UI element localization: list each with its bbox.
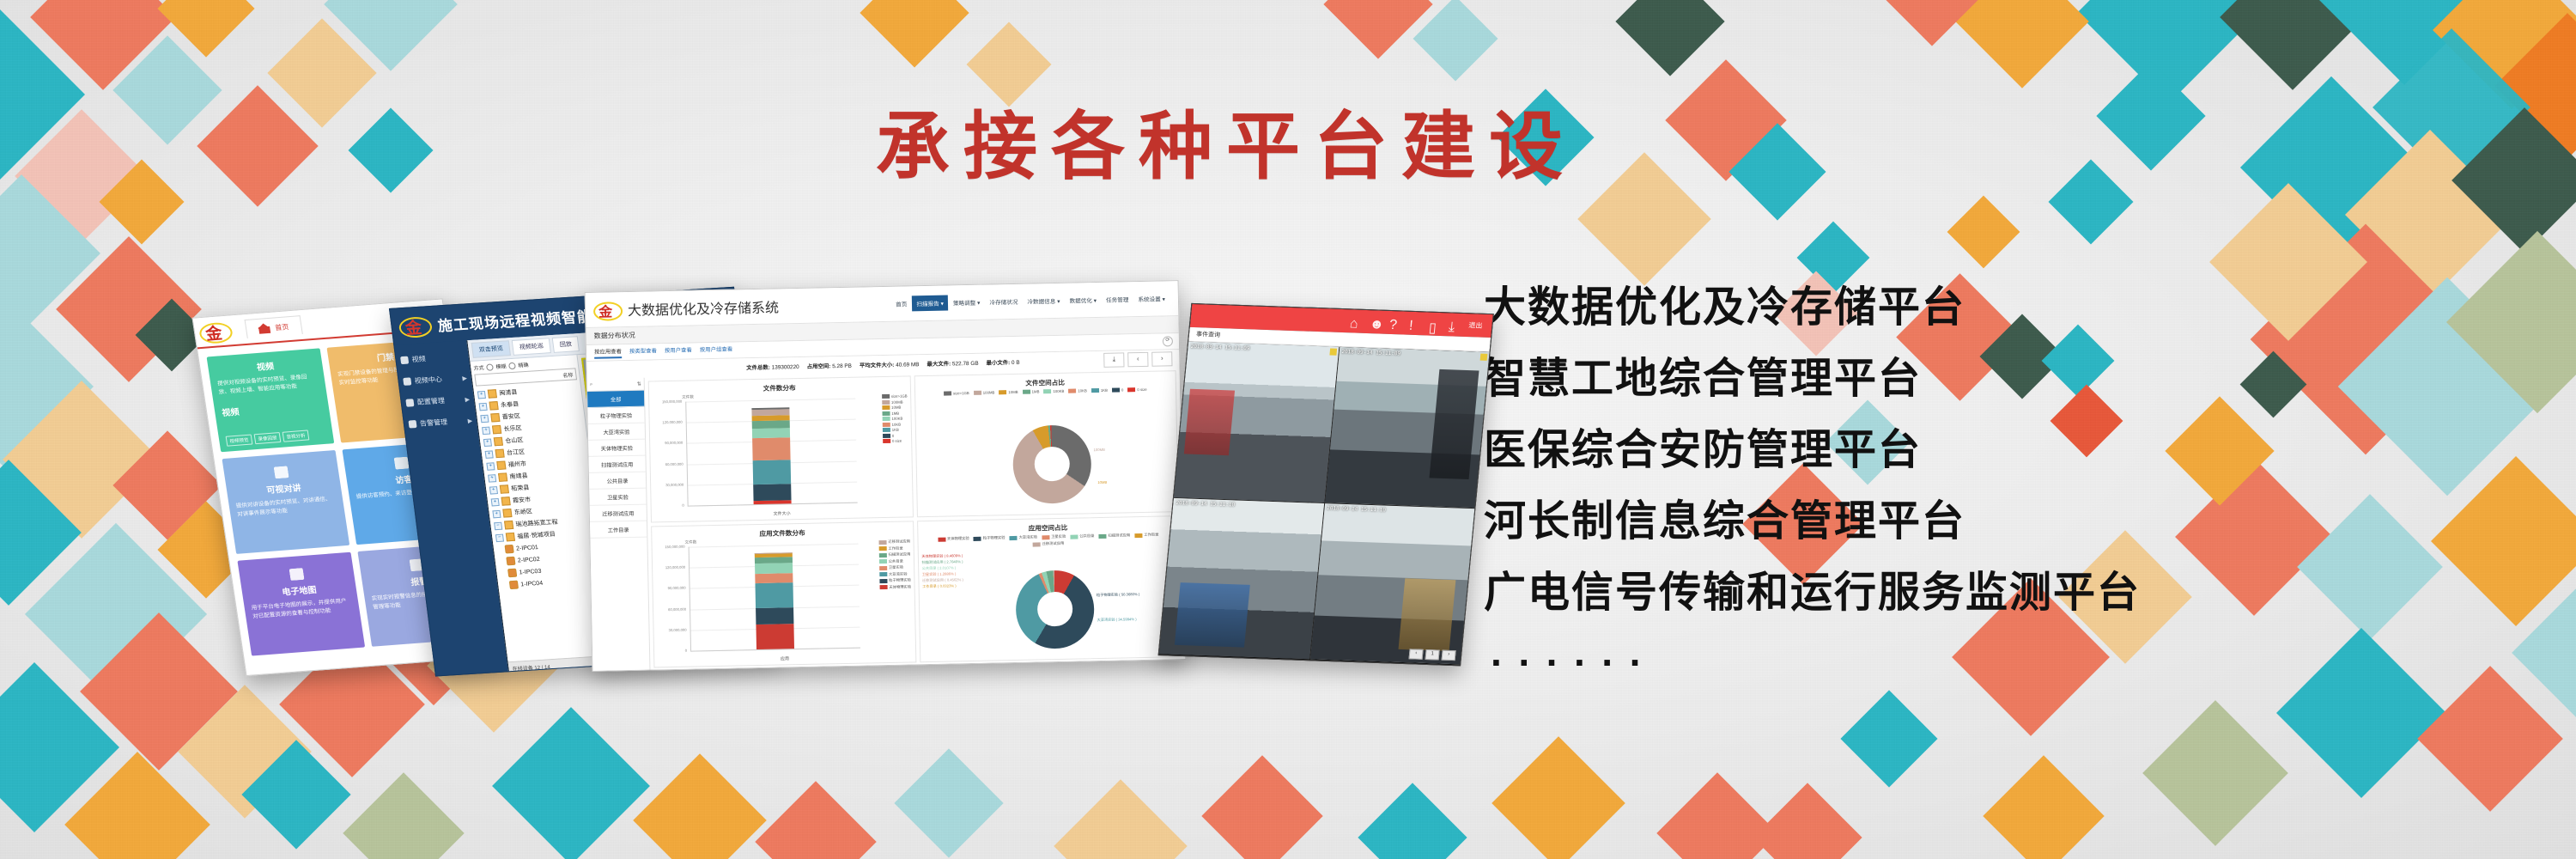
camera-tile[interactable]: 2018-09-14 15:11:09 bbox=[1174, 342, 1339, 503]
legend-label: 10MB bbox=[1008, 390, 1018, 394]
y-tick-label: 150,000,000 bbox=[651, 399, 682, 405]
sidebar-app-item[interactable]: 全部 bbox=[587, 391, 644, 408]
portal-card[interactable]: 电子地图用于平台电子地图的展示，并提供用户对已配置资源的查看与控制功能 bbox=[237, 552, 365, 656]
download-icon[interactable]: ⤓ bbox=[1449, 320, 1460, 330]
tree-node-label: 长乐区 bbox=[503, 423, 522, 433]
legend-label: 10KB bbox=[1078, 388, 1087, 393]
pie-annotation: 工作目录 ( 0.0323% ) bbox=[922, 583, 957, 589]
sidebar-app-item[interactable]: 迁移测试应用 bbox=[590, 505, 647, 522]
legend-label: 卫星实验 bbox=[1051, 534, 1066, 539]
camera-tile[interactable]: 2018-09-14 15:11:10 bbox=[1310, 503, 1475, 664]
decor-square bbox=[860, 0, 969, 68]
legend-item: 迁移测试应用 bbox=[1032, 541, 1064, 547]
decor-square bbox=[1413, 0, 1498, 81]
tree-node-label: 东峤区 bbox=[513, 508, 532, 517]
site-tab[interactable]: 双击预览 bbox=[471, 340, 511, 358]
dashboard-stat: 最小文件: 0 B bbox=[986, 357, 1019, 366]
dashboard-nav-item[interactable]: 冷数据信息 ▾ bbox=[1023, 293, 1064, 309]
y-axis-label: 文件数 bbox=[684, 539, 696, 545]
expand-toggle-icon[interactable]: + bbox=[480, 414, 489, 422]
expand-toggle-icon[interactable]: + bbox=[483, 438, 492, 446]
tree-node-label: 晋安区 bbox=[501, 411, 520, 421]
expand-toggle-icon[interactable]: + bbox=[486, 462, 495, 470]
stat-value: 522.78 GB bbox=[952, 360, 979, 367]
legend-item: size>1GB bbox=[944, 391, 969, 396]
legend-swatch bbox=[879, 552, 887, 557]
next-button[interactable]: › bbox=[1151, 351, 1172, 366]
legend-label: 100KB bbox=[891, 417, 902, 421]
brand-logo-icon: 金 bbox=[396, 313, 434, 338]
y-tick-label: 90,000,000 bbox=[655, 586, 686, 591]
legend-swatch bbox=[882, 417, 890, 421]
bell-icon bbox=[408, 420, 416, 428]
live-badge bbox=[1480, 354, 1488, 361]
opt-fuzzy[interactable]: 模糊 bbox=[495, 362, 507, 370]
radio-fuzzy-icon[interactable] bbox=[486, 363, 494, 370]
expand-toggle-icon[interactable]: + bbox=[485, 450, 494, 458]
sort-label: 名称 bbox=[562, 370, 574, 379]
chart-file-count-distribution: 文件数分布文件数030,000,00060,000,00090,000,0001… bbox=[648, 375, 914, 522]
pie-annotation: 天体物理实验 ( 8.4609% ) bbox=[921, 553, 963, 559]
legend-label: 粒子物理实验 bbox=[889, 577, 911, 583]
building-icon bbox=[494, 437, 503, 447]
stat-label: 文件总数: bbox=[746, 364, 770, 371]
dashboard-nav-item[interactable]: 首页 bbox=[891, 295, 912, 311]
legend-label: 扫描测试应用 bbox=[889, 551, 911, 557]
cctv-camera-grid[interactable]: 2018-09-14 15:11:09 2018-09-14 15:11:09 … bbox=[1159, 342, 1490, 665]
site-tab[interactable]: 回放 bbox=[552, 336, 580, 353]
decor-square bbox=[343, 772, 464, 859]
y-tick-label: 90,000,000 bbox=[652, 441, 683, 446]
pie-annotation: 100MBsize>1GB ( 31.5270% )10MB1MB0 size … bbox=[1094, 448, 1105, 452]
y-axis bbox=[689, 547, 691, 651]
dashboard-page-title: 数据分布状况 bbox=[594, 331, 635, 341]
chart-legend: 迁移测试应用 工作目录 扫描测试应用 公共目录 卫星实验 大亚湾实验 粒子物理实… bbox=[878, 539, 911, 589]
chart-title: 文件数分布 bbox=[649, 381, 910, 395]
site-nav-label: 配置管理 bbox=[416, 396, 445, 407]
legend-label: size>1GB bbox=[953, 391, 969, 395]
sidebar-app-item[interactable]: 公共目录 bbox=[589, 472, 646, 490]
cctv-next-button[interactable]: › bbox=[1442, 650, 1456, 661]
stat-value: 5.28 PB bbox=[832, 362, 852, 369]
map-icon bbox=[289, 568, 305, 581]
camera-timestamp: 2018-09-14 15:11:09 bbox=[1341, 349, 1400, 356]
bar-segment bbox=[755, 557, 793, 564]
sidebar-app-item[interactable]: 扫描测试应用 bbox=[588, 456, 645, 473]
decor-square bbox=[1983, 755, 2104, 859]
site-nav-label: 告警管理 bbox=[419, 417, 447, 429]
cctv-prev-button[interactable]: ‹ bbox=[1409, 649, 1424, 660]
legend-label: 100KB bbox=[1053, 389, 1064, 393]
chart-file-space-ratio: 文件空间占比 size>1GB 100MB 10MB 1MB 100KB 10K… bbox=[914, 370, 1179, 517]
legend-label: 公共目录 bbox=[1079, 533, 1094, 539]
search-mode-label: 方式 bbox=[473, 363, 484, 372]
legend-item: 1KB bbox=[883, 427, 908, 432]
expand-toggle-icon[interactable]: − bbox=[495, 533, 504, 541]
platform-item: 广电信号传输和运行服务监测平台 bbox=[1484, 569, 2497, 616]
site-tab[interactable]: 视频轮巡 bbox=[512, 338, 551, 356]
legend-swatch bbox=[879, 578, 887, 582]
legend-item: 10MB bbox=[999, 390, 1018, 394]
decor-square bbox=[1656, 772, 1777, 859]
mobile-icon[interactable]: ▯ bbox=[1429, 319, 1440, 329]
site-nav-label: 视频 bbox=[411, 354, 426, 364]
legend-label: 迁移测试应用 bbox=[1042, 541, 1064, 547]
legend-swatch bbox=[1134, 533, 1142, 538]
legend-swatch bbox=[1023, 390, 1030, 394]
decor-square bbox=[1054, 779, 1188, 859]
dashboard-nav-item[interactable]: 数据优化 ▾ bbox=[1065, 292, 1101, 308]
y-tick-label: 60,000,000 bbox=[653, 461, 683, 466]
decor-square bbox=[349, 108, 434, 193]
legend-item: 扫描测试应用 bbox=[879, 551, 911, 557]
camera-icon bbox=[505, 545, 514, 554]
legend-swatch bbox=[879, 585, 887, 589]
legend-item: 工作目录 bbox=[878, 545, 910, 551]
legend-label: 大亚湾实验 bbox=[889, 571, 908, 576]
tree-node-label: 福居·悦城项目 bbox=[517, 530, 556, 541]
card-buttons[interactable]: 视频预览录像回放音视分析 bbox=[226, 429, 310, 446]
camera-timestamp: 2018-09-14 15:11:10 bbox=[1327, 505, 1386, 513]
dashboard-tab[interactable]: 按类型查看 bbox=[629, 346, 657, 358]
bar-segment bbox=[756, 607, 793, 624]
pie-annotation: 大亚湾实验 ( 34.5994% ) bbox=[1097, 617, 1136, 623]
sidebar-app-item[interactable]: 大亚湾实验 bbox=[588, 423, 645, 441]
exit-button[interactable]: 退出 bbox=[1468, 320, 1483, 331]
info-icon[interactable]: ! bbox=[1409, 318, 1420, 328]
refresh-icon[interactable]: ⟳ bbox=[1163, 336, 1173, 346]
dashboard-nav-item[interactable]: 冷存储状况 bbox=[985, 294, 1022, 310]
dashboard-nav-item[interactable]: 任务管理 bbox=[1102, 291, 1133, 308]
legend-swatch bbox=[1127, 387, 1135, 392]
legend-swatch bbox=[974, 391, 981, 395]
decor-square bbox=[755, 781, 876, 859]
legend-swatch bbox=[1098, 533, 1106, 538]
sidebar-app-item[interactable]: 工作目录 bbox=[590, 521, 647, 539]
sidebar-app-item[interactable]: 粒子物理实验 bbox=[587, 407, 644, 424]
dashboard-tab[interactable]: 按用户查看 bbox=[665, 345, 692, 357]
portal-card[interactable]: 可视对讲提供对讲设备的实时预览、对讲通信、对讲事件展示等功能 bbox=[222, 450, 349, 554]
dashboard-action-buttons[interactable]: ⤓‹› bbox=[1103, 351, 1172, 368]
decor-square bbox=[1955, 0, 2089, 88]
stat-value: 0 B bbox=[1012, 359, 1020, 365]
camera-timestamp: 2018-09-14 15:11:10 bbox=[1176, 500, 1235, 508]
intercom-icon bbox=[274, 466, 289, 478]
stat-label: 平均文件大小: bbox=[860, 362, 895, 369]
legend-swatch bbox=[944, 391, 951, 395]
legend-label: 公共目录 bbox=[889, 558, 903, 564]
expand-toggle-icon[interactable]: + bbox=[492, 509, 501, 517]
donut-chart bbox=[1015, 570, 1095, 649]
video-icon bbox=[403, 377, 411, 385]
decor-square bbox=[1753, 783, 1862, 859]
brand-logo-icon: 金 bbox=[196, 319, 234, 344]
legend-item: 0 bbox=[1112, 387, 1123, 392]
decor-square bbox=[1615, 0, 1724, 76]
legend-item: 大亚湾实验 bbox=[879, 571, 911, 577]
building-icon bbox=[492, 425, 501, 435]
legend-label: 1MB bbox=[1032, 389, 1040, 393]
building-icon bbox=[488, 389, 497, 399]
legend-swatch bbox=[883, 439, 890, 443]
device-label: 1-IPC04 bbox=[520, 580, 544, 588]
dashboard-tab[interactable]: 按用户组查看 bbox=[700, 344, 733, 356]
legend-swatch bbox=[1043, 389, 1051, 393]
decor-square bbox=[1492, 736, 1625, 859]
decor-square bbox=[1840, 690, 1937, 787]
window-cctv-monitor[interactable]: ⌂ ☻ ? ! ▯ ⤓ 退出 事件查询 2018-09-14 15:11:09 … bbox=[1158, 303, 1494, 666]
legend-label: 1KB bbox=[892, 428, 899, 432]
help-icon[interactable]: ? bbox=[1389, 317, 1400, 327]
home-icon[interactable]: ⌂ bbox=[1350, 316, 1361, 326]
legend-swatch bbox=[879, 572, 887, 576]
decor-square bbox=[1201, 755, 1322, 859]
card-button[interactable]: 录像回放 bbox=[254, 432, 282, 444]
tree-node-label: 柘荣县 bbox=[511, 484, 530, 493]
x-axis-label: 应用 bbox=[654, 653, 915, 664]
expand-toggle-icon[interactable]: + bbox=[479, 402, 488, 410]
legend-item: 100KB bbox=[882, 416, 908, 421]
dashboard-nav-item[interactable]: 系统设置 ▾ bbox=[1133, 290, 1170, 307]
legend-swatch bbox=[1042, 535, 1049, 539]
decor-square bbox=[2049, 160, 2134, 245]
bar-segment bbox=[752, 420, 790, 429]
legend-item: 100KB bbox=[1043, 389, 1064, 393]
decor-square bbox=[492, 707, 650, 859]
legend-swatch bbox=[882, 405, 890, 410]
stat-label: 最大文件: bbox=[927, 361, 951, 368]
gridline bbox=[685, 399, 854, 403]
expand-toggle-icon[interactable]: + bbox=[491, 497, 500, 505]
legend-label: 1KB bbox=[1101, 388, 1108, 393]
expand-toggle-icon[interactable]: + bbox=[489, 486, 498, 494]
legend-swatch bbox=[879, 565, 887, 570]
bar-segment bbox=[755, 563, 793, 574]
y-tick-label: 0 bbox=[653, 503, 684, 509]
legend-label: 卫星实验 bbox=[889, 565, 903, 570]
visitor-icon bbox=[394, 457, 410, 470]
gridline bbox=[689, 544, 858, 548]
legend-item: 10KB bbox=[882, 422, 908, 427]
site-nav-label: 视频中心 bbox=[414, 375, 442, 386]
prev-button[interactable]: ‹ bbox=[1127, 352, 1148, 367]
platform-item: 医保综合安防管理平台 bbox=[1484, 426, 2497, 473]
search-icon[interactable]: ⌕ bbox=[590, 381, 593, 387]
decor-square bbox=[2417, 666, 2563, 812]
legend-swatch bbox=[882, 399, 890, 404]
chevron-right-icon: ▶ bbox=[462, 375, 467, 381]
tree-node-label: 福州市 bbox=[507, 460, 526, 469]
legend-swatch bbox=[1068, 389, 1076, 393]
expand-toggle-icon[interactable]: + bbox=[488, 474, 496, 482]
sidebar-toolbar[interactable]: ⌕ ⇅ bbox=[587, 378, 644, 392]
legend-item: 卫星实验 bbox=[1042, 534, 1066, 540]
sidebar-app-item[interactable]: 天体物理实验 bbox=[588, 440, 645, 457]
bar-segment bbox=[753, 460, 792, 484]
decor-square bbox=[894, 748, 1003, 857]
tab-event-query[interactable]: 事件查询 bbox=[1196, 330, 1221, 339]
building-icon bbox=[501, 497, 511, 506]
legend-item: 天体物理实验 bbox=[879, 584, 911, 590]
dashboard-nav-item[interactable]: 策略调整 ▾ bbox=[949, 295, 985, 311]
bar-segment bbox=[755, 573, 793, 583]
chart-legend: size>1GB 100MB 10MB 1MB 100KB 10KB 1KB 0… bbox=[882, 393, 908, 443]
legend-swatch bbox=[879, 559, 887, 564]
legend-label: 0 bbox=[1121, 387, 1123, 392]
pie-annotation: 粒子物理实验 ( 50.3680% ) bbox=[1097, 592, 1139, 598]
card-subtitle: 视频 bbox=[221, 398, 322, 418]
dashboard-stat: 占用空间: 5.28 PB bbox=[807, 361, 852, 369]
dashboard-title: 大数据优化及冷存储系统 bbox=[628, 295, 779, 320]
x-axis-label: 文件大小 bbox=[652, 508, 913, 519]
legend-label: size>1GB bbox=[891, 393, 908, 398]
legend-label: 工作目录 bbox=[888, 545, 902, 551]
legend-item: 工作目录 bbox=[1134, 533, 1158, 539]
donut-chart bbox=[1012, 424, 1092, 504]
legend-swatch bbox=[1091, 388, 1099, 393]
tree-node-label: 闽清县 bbox=[499, 388, 518, 398]
legend-label: 0 bbox=[892, 433, 894, 437]
stat-value: 139300220 bbox=[772, 363, 799, 370]
user-icon[interactable]: ☻ bbox=[1370, 317, 1381, 327]
decor-square bbox=[1323, 0, 1432, 59]
expand-toggle-icon[interactable]: + bbox=[477, 390, 486, 398]
pie-annotation: 扫描测试应用 ( 2.7840% ) bbox=[921, 559, 963, 565]
legend-swatch bbox=[882, 411, 890, 415]
camera-tile[interactable]: 2018-09-14 15:11:10 bbox=[1159, 498, 1324, 659]
legend-label: 粒子物理实验 bbox=[983, 535, 1005, 541]
legend-swatch bbox=[882, 422, 890, 426]
legend-label: 迁移测试应用 bbox=[888, 539, 910, 545]
card-desc: 提供对讲设备的实时预览、对讲通信、对讲事件展示等功能 bbox=[235, 495, 337, 519]
chevron-right-icon: ▶ bbox=[465, 396, 470, 403]
card-button[interactable]: 音视分析 bbox=[283, 429, 310, 442]
card-desc: 用于平台电子地图的展示，并提供用户对已配置资源的查看与控制功能 bbox=[251, 597, 353, 621]
legend-item: 1MB bbox=[1023, 389, 1040, 393]
camera-tile[interactable]: 2018-09-14 15:11:09 bbox=[1325, 347, 1490, 508]
banner-canvas: 承接各种平台建设 大数据优化及冷存储平台 智慧工地综合管理平台 医保综合安防管理… bbox=[0, 0, 2576, 859]
site-nav-item[interactable]: 告警管理 ▶ bbox=[403, 410, 477, 436]
legend-item: 0 size bbox=[883, 438, 908, 443]
dashboard-nav-item[interactable]: 扫描报告 ▾ bbox=[912, 295, 948, 311]
chart-app-space-ratio: 应用空间占比 天体物理实验 粒子物理实验 大亚湾实验 卫星实验 公共目录 扫描测… bbox=[917, 515, 1182, 662]
y-tick-label: 0 bbox=[656, 649, 687, 654]
pie-annotation: 卫星实验 ( 1.2886% ) bbox=[922, 571, 957, 577]
platform-item: 河长制信息综合管理平台 bbox=[1484, 497, 2497, 545]
expand-toggle-icon[interactable]: − bbox=[494, 521, 502, 529]
live-badge bbox=[1329, 348, 1337, 355]
chevron-right-icon: ▶ bbox=[467, 417, 472, 423]
dashboard-app-sidebar[interactable]: ⌕ ⇅ 全部粒子物理实验大亚湾实验天体物理实验扫描测试应用公共目录卫星实验迁移测… bbox=[587, 378, 651, 672]
legend-item: 粒子物理实验 bbox=[974, 535, 1005, 541]
legend-item: 迁移测试应用 bbox=[878, 539, 910, 545]
bar-segment bbox=[753, 484, 791, 501]
y-tick-label: 30,000,000 bbox=[656, 627, 687, 632]
opt-exact[interactable]: 精确 bbox=[518, 361, 529, 369]
building-icon bbox=[496, 460, 506, 470]
legend-label: 天体物理实验 bbox=[947, 536, 969, 542]
sidebar-app-item[interactable]: 卫星实验 bbox=[589, 489, 646, 506]
y-tick-label: 120,000,000 bbox=[652, 420, 683, 425]
legend-item: 粒子物理实验 bbox=[879, 577, 911, 583]
camera-icon bbox=[507, 569, 517, 578]
stat-label: 最小文件: bbox=[986, 360, 1010, 367]
platform-item: 智慧工地综合管理平台 bbox=[1484, 355, 2497, 402]
legend-item: 1KB bbox=[1091, 388, 1108, 393]
download-button[interactable]: ⤓ bbox=[1103, 352, 1124, 367]
building-icon bbox=[495, 449, 504, 459]
legend-swatch bbox=[878, 539, 886, 544]
bar-segment bbox=[752, 438, 791, 460]
legend-item: 公共目录 bbox=[879, 558, 911, 564]
y-tick-label: 120,000,000 bbox=[654, 565, 685, 570]
legend-label: 工作目录 bbox=[1144, 533, 1158, 538]
platform-item: 大数据优化及冷存储平台 bbox=[1484, 283, 2497, 331]
building-icon bbox=[498, 472, 507, 482]
legend-item: 卫星实验 bbox=[879, 564, 911, 570]
device-label: 1-IPC03 bbox=[519, 568, 542, 576]
legend-swatch bbox=[883, 433, 890, 437]
legend-label: 10KB bbox=[891, 422, 901, 426]
expand-toggle-icon[interactable]: + bbox=[482, 426, 490, 434]
legend-swatch bbox=[999, 390, 1006, 394]
cctv-page-number: 1 bbox=[1425, 649, 1440, 661]
tree-node-label: 霞安市 bbox=[513, 496, 532, 505]
tab-home[interactable]: 首页 bbox=[245, 315, 303, 338]
cctv-pager[interactable]: ‹ 1 › bbox=[1409, 649, 1456, 661]
window-bigdata-dashboard[interactable]: 金 大数据优化及冷存储系统 首页扫描报告 ▾策略调整 ▾冷存储状况冷数据信息 ▾… bbox=[585, 280, 1187, 672]
tree-node-label: 南靖县 bbox=[509, 472, 528, 481]
device-label: 2-IPC02 bbox=[517, 556, 540, 564]
legend-item: 天体物理实验 bbox=[938, 536, 969, 542]
decor-square bbox=[2142, 700, 2288, 846]
building-icon bbox=[502, 509, 512, 518]
page-title: 承接各种平台建设 bbox=[876, 110, 1820, 184]
legend-item: 10KB bbox=[1068, 388, 1087, 393]
home-icon bbox=[400, 356, 409, 364]
building-icon bbox=[504, 521, 513, 530]
y-tick-label: 60,000,000 bbox=[655, 606, 686, 612]
portal-card[interactable]: 视频提供对视频设备的实时预览、录像回放、视频上墙、智能应用等功能视频视频预览录像… bbox=[207, 348, 335, 452]
dashboard-tab[interactable]: 按应用查看 bbox=[594, 347, 622, 359]
pie-annotation: 10MB1MB0 size ( 0.4510% )100KB10KB1KB0 bbox=[1097, 480, 1107, 484]
legend-swatch bbox=[1070, 534, 1078, 539]
card-button[interactable]: 视频预览 bbox=[226, 435, 253, 447]
dashboard-nav[interactable]: 首页扫描报告 ▾策略调整 ▾冷存储状况冷数据信息 ▾数据优化 ▾任务管理系统设置… bbox=[891, 290, 1178, 312]
building-icon bbox=[490, 413, 500, 423]
chart-app-file-count-distribution: 应用文件数分布文件数030,000,00060,000,00090,000,00… bbox=[651, 521, 916, 667]
brand-logo-icon: 金 bbox=[592, 299, 622, 320]
y-tick-label: 30,000,000 bbox=[653, 483, 683, 488]
sort-icon[interactable]: ⇅ bbox=[637, 381, 641, 387]
camera-timestamp: 2018-09-14 15:11:09 bbox=[1190, 344, 1249, 351]
legend-label: 0 size bbox=[892, 439, 902, 443]
legend-item: 扫描测试应用 bbox=[1098, 533, 1130, 539]
tree-node-label: 仓山区 bbox=[505, 436, 524, 445]
bar-segment bbox=[755, 552, 793, 557]
ellipsis-marker: ······ bbox=[1491, 639, 2497, 685]
decor-square bbox=[967, 22, 1052, 107]
legend-item: 0 bbox=[883, 433, 908, 438]
pie-annotation: 公共目录 ( 2.0107% ) bbox=[922, 565, 957, 571]
radio-exact-icon[interactable] bbox=[508, 362, 516, 369]
decor-square bbox=[1947, 196, 2020, 269]
legend-swatch bbox=[883, 428, 890, 432]
dashboard-stat: 最大文件: 522.78 GB bbox=[927, 358, 978, 367]
legend-item: 大亚湾实验 bbox=[1010, 534, 1038, 540]
decor-square bbox=[633, 753, 767, 859]
legend-label: 扫描测试应用 bbox=[1108, 533, 1130, 539]
